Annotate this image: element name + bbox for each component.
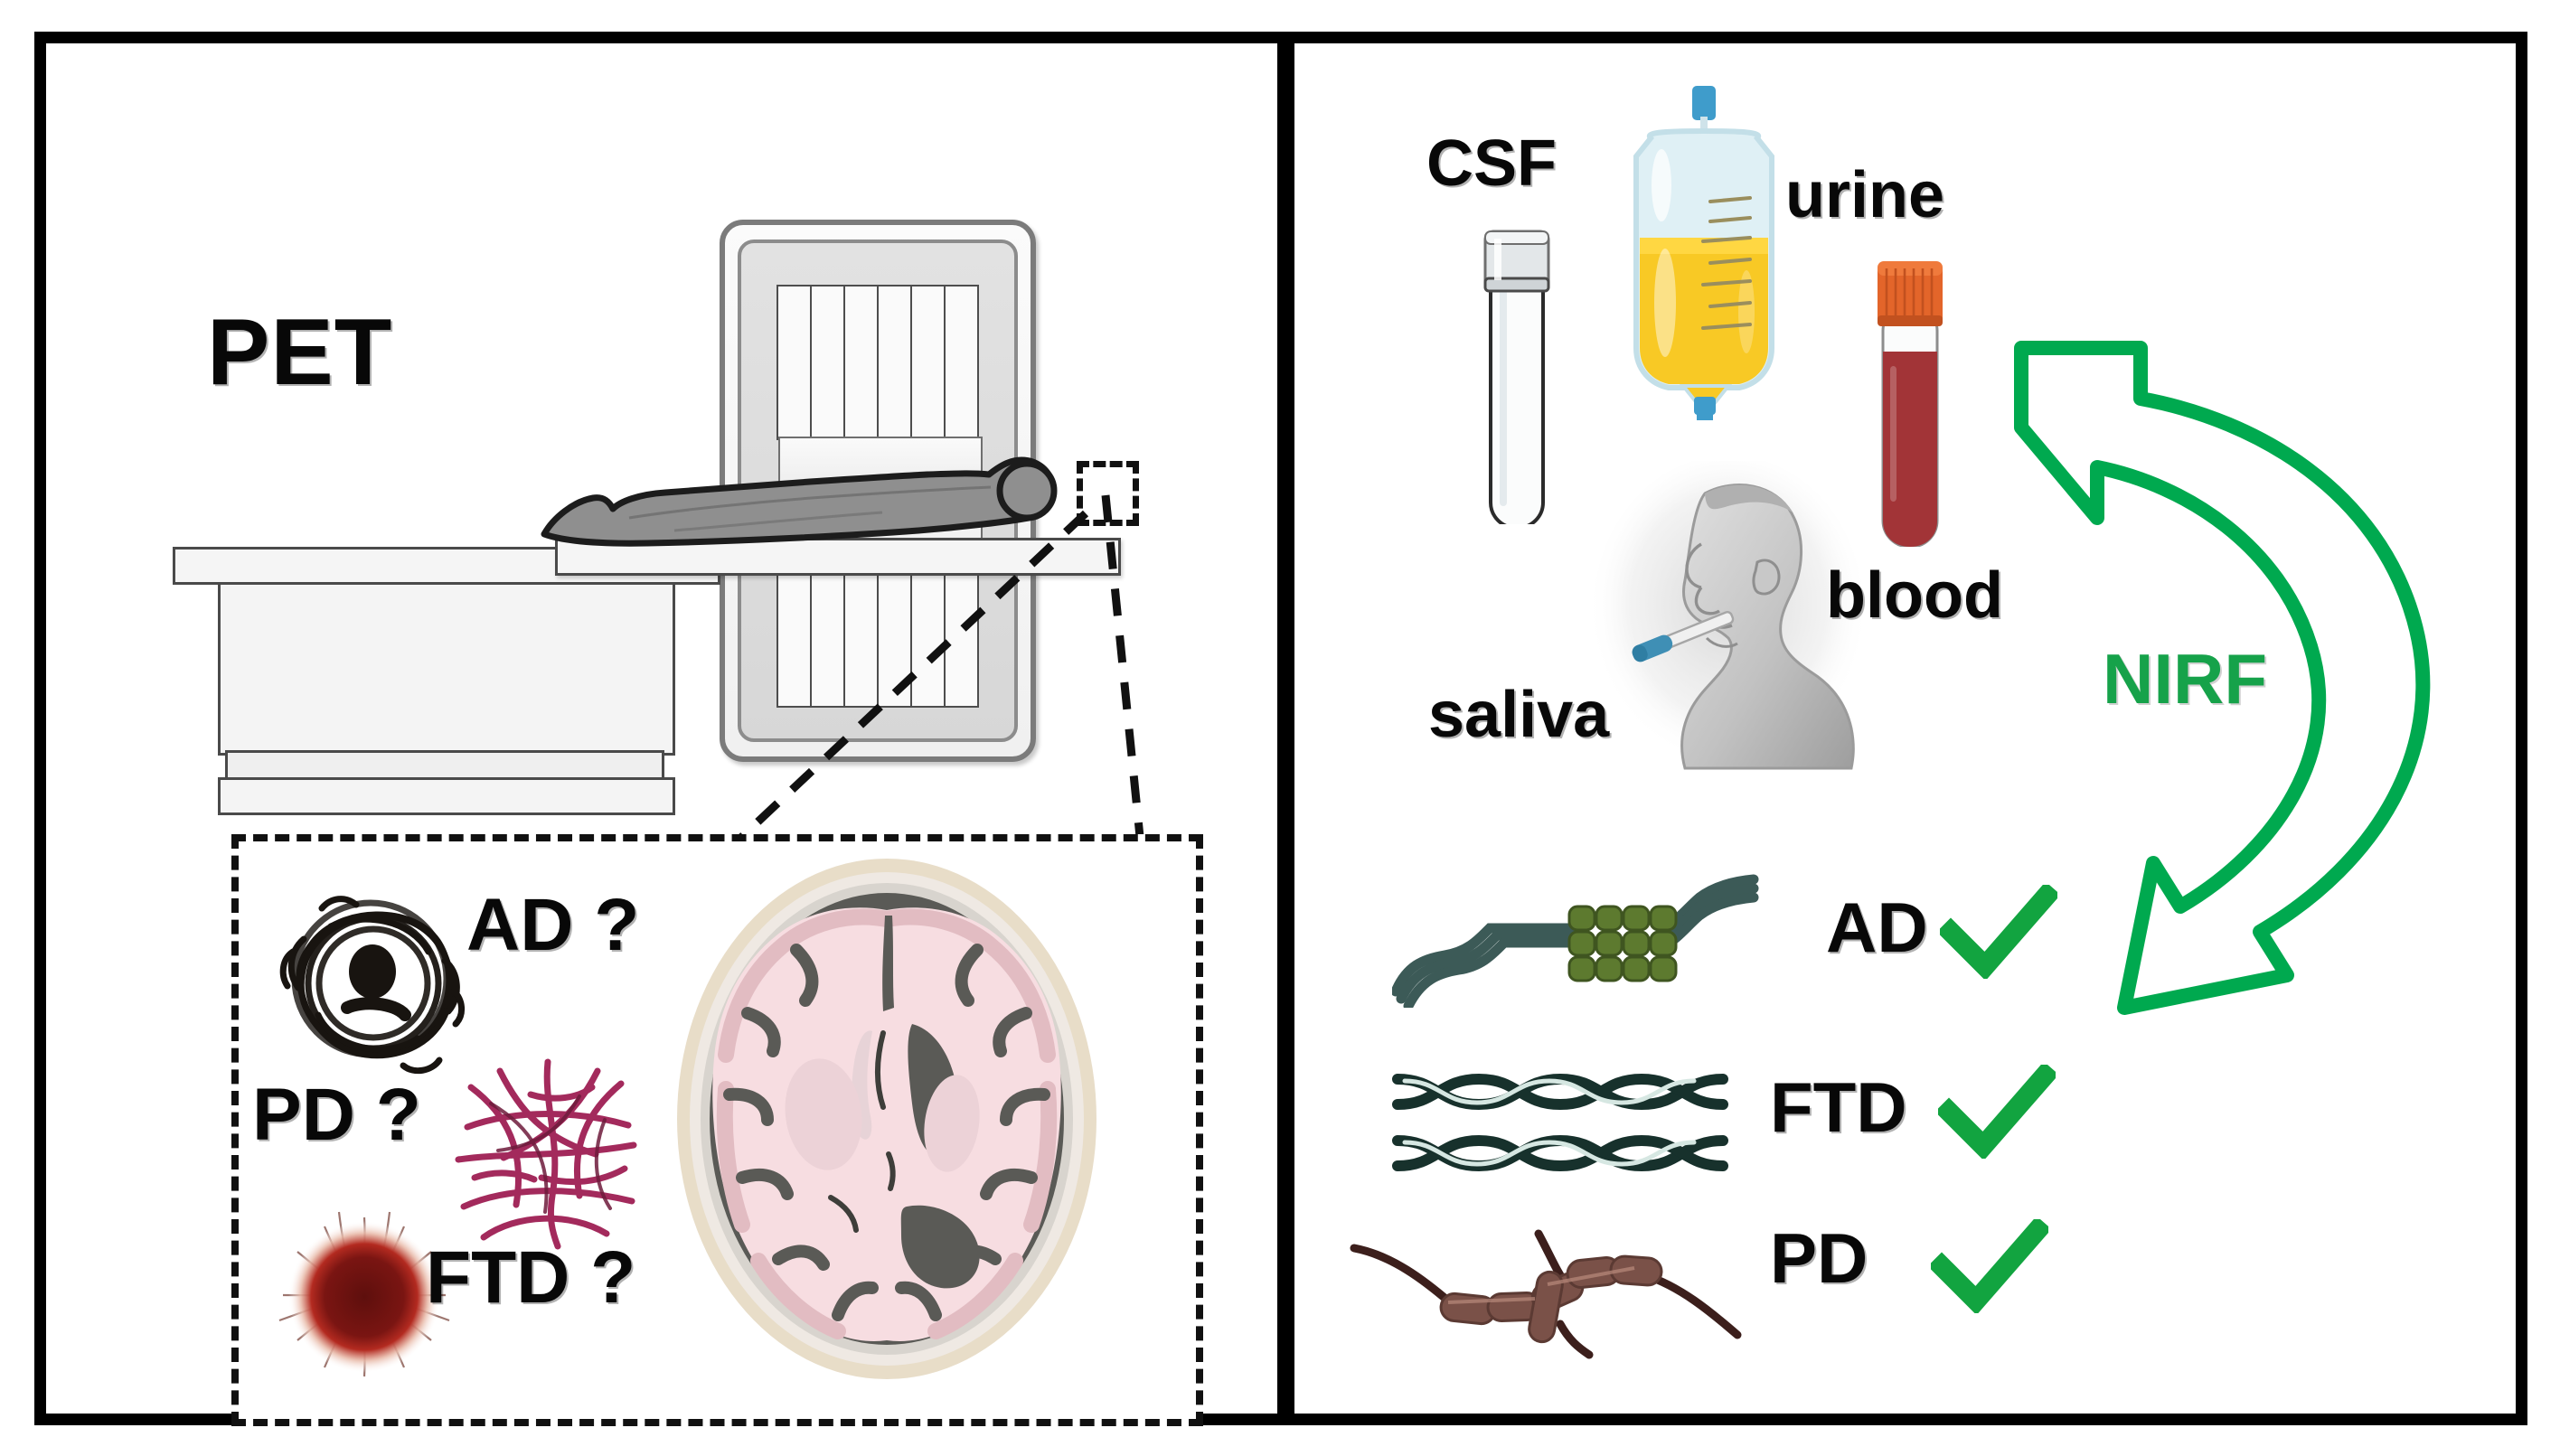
detector-array-top — [778, 285, 979, 440]
scanner-table-base — [218, 777, 675, 815]
scanner-table-body — [218, 577, 675, 756]
disease-row-ad: AD — [1392, 872, 2079, 1008]
inset-label-ftd: FTD ? — [426, 1241, 635, 1315]
blood-label: blood — [1826, 563, 2003, 628]
inset-label-pd: PD ? — [252, 1078, 421, 1152]
check-icon — [1940, 885, 2057, 979]
brain-cross-section-icon — [670, 852, 1104, 1386]
pet-title: PET — [207, 305, 392, 399]
check-icon — [1938, 1065, 2056, 1159]
saliva-label: saliva — [1428, 682, 1609, 747]
disease-row-pd: PD — [1347, 1216, 2088, 1351]
figure-root: PET — [0, 0, 2560, 1456]
fibril-network-icon — [444, 1051, 652, 1259]
left-pet-panel: PET — [34, 32, 1289, 1425]
nirf-label: NIRF — [2103, 643, 2267, 714]
urine-label: urine — [1785, 163, 1944, 228]
csf-tube-icon — [1474, 226, 1560, 524]
csf-label: CSF — [1426, 131, 1557, 196]
alpha-synuclein-fibril-icon — [1347, 1216, 1817, 1360]
amyloid-beta-sheet-icon — [1392, 872, 1817, 1008]
urine-bag-icon — [1613, 86, 1798, 420]
head-callout-box — [1077, 461, 1139, 526]
blood-tube-icon — [1865, 258, 1955, 547]
inset-label-ad: AD ? — [466, 888, 639, 963]
disease-row-ftd: FTD — [1392, 1057, 2079, 1193]
disease-label-ftd: FTD — [1770, 1072, 1907, 1142]
check-icon — [1931, 1219, 2048, 1313]
paired-helical-filament-icon — [1392, 1057, 1745, 1175]
neurofibrillary-tangle-icon — [277, 888, 471, 1083]
disease-label-ad: AD — [1826, 892, 1928, 963]
disease-label-pd: PD — [1770, 1223, 1868, 1293]
patient-silhouette-icon — [539, 455, 1099, 554]
